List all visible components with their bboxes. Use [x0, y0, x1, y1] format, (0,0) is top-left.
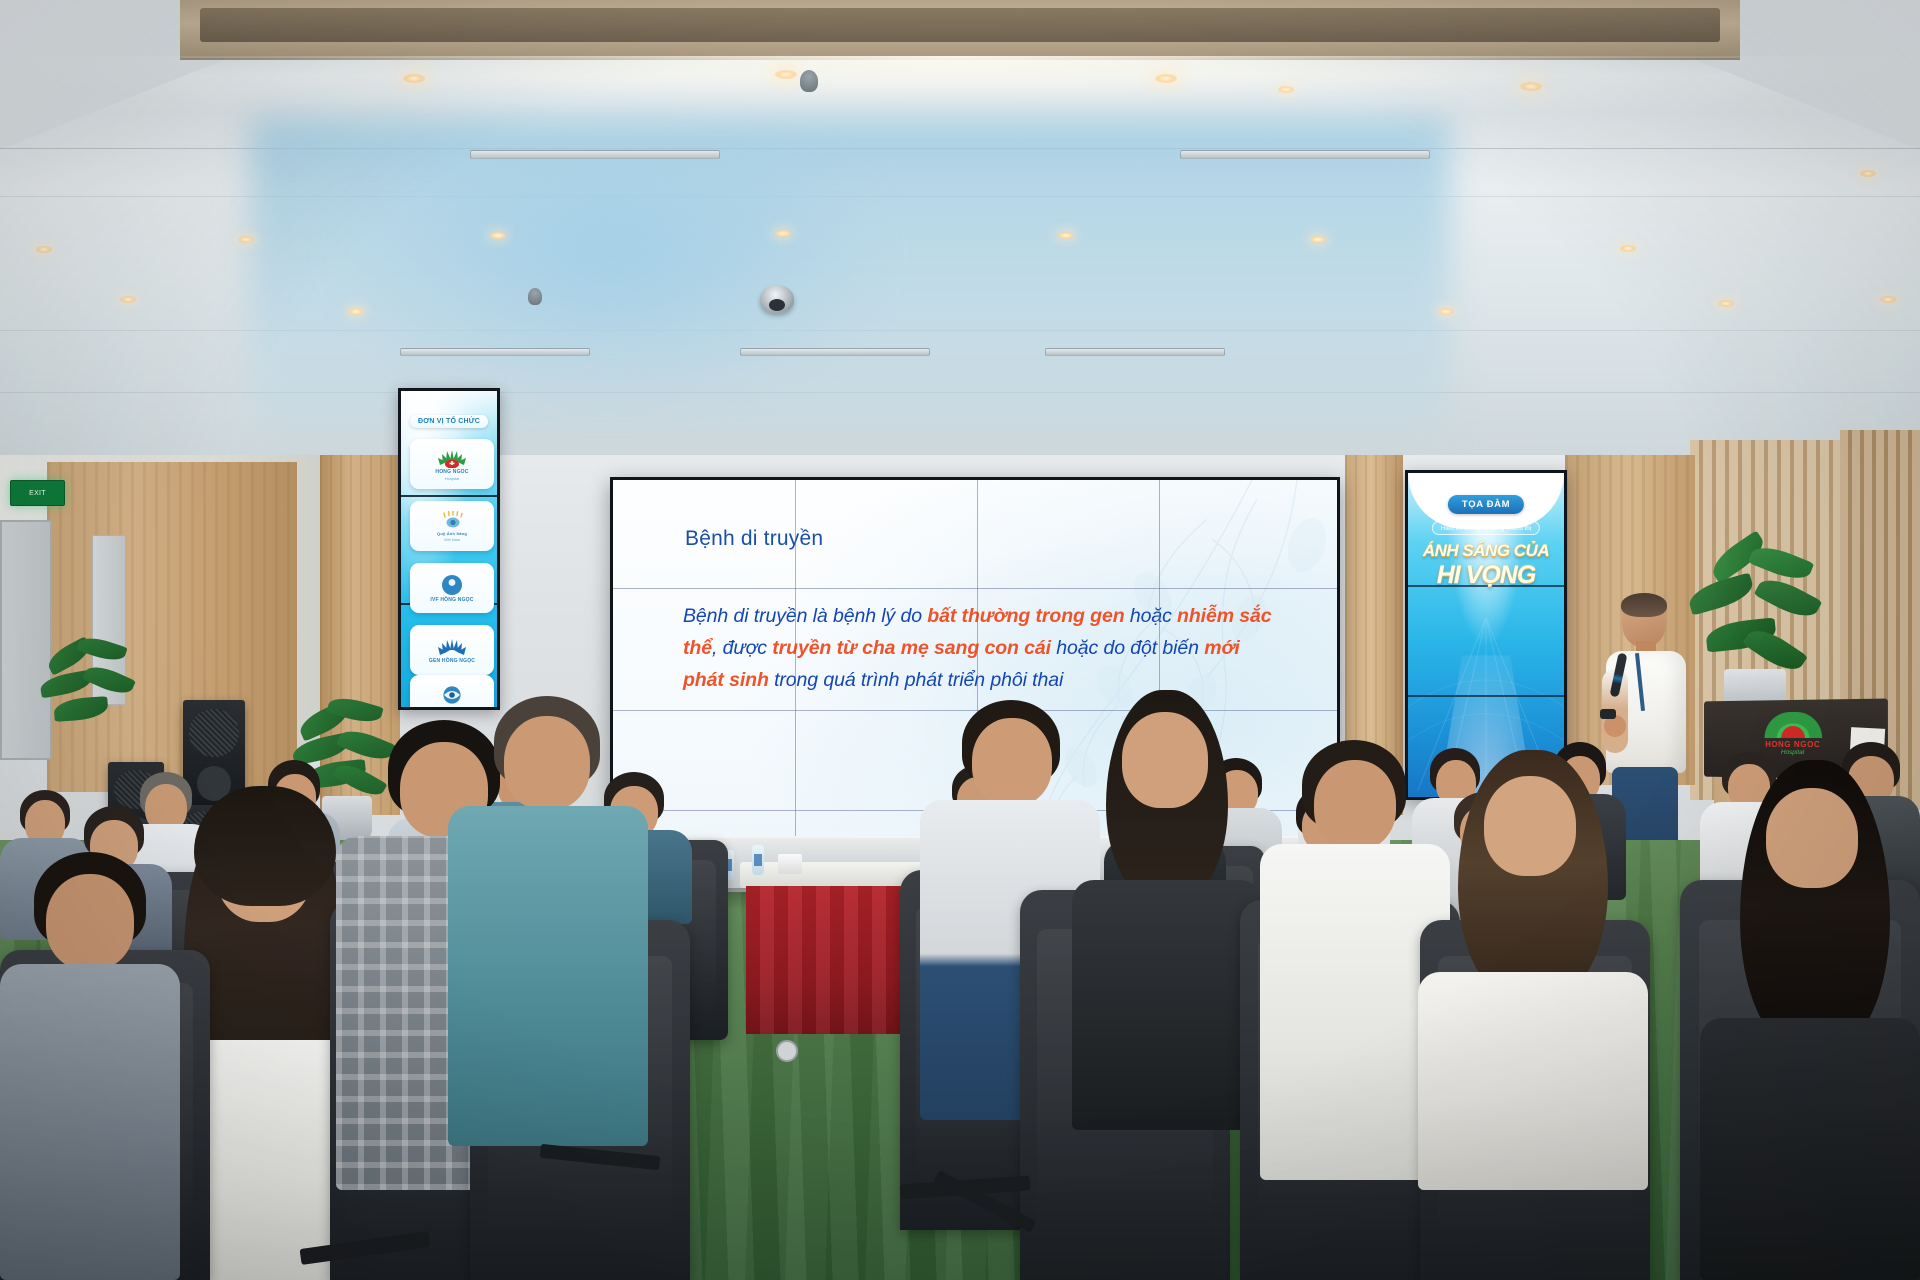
ceiling-downlight [1718, 300, 1734, 307]
event-hero-line-2: HI VỌNG [1437, 561, 1536, 590]
ceiling-downlight [490, 232, 506, 239]
ceiling-downlight [1278, 86, 1294, 93]
water-bottle [752, 845, 764, 875]
audience-person-front-far-right [1700, 760, 1920, 1280]
conference-room-photo: EXIT ĐƠN VỊ TỔ CHỨC HONG NGOC [0, 0, 1920, 1280]
slide-run-0: Bệnh di truyền là bệnh lý do [683, 605, 927, 627]
ceiling-downlight [1880, 296, 1896, 303]
hong-ngoc-fan-icon [435, 448, 469, 468]
sponsor-card-hong-ngoc: HONG NGOC Hospital [410, 439, 494, 489]
potted-plant-far-left [40, 640, 150, 770]
slide-run-6: hoặc do đột biến [1051, 637, 1204, 659]
ceiling-downlight [1310, 236, 1326, 243]
panel-seam [613, 588, 1337, 589]
eye-sun-icon [437, 510, 467, 530]
ceiling-downlight [1620, 245, 1636, 252]
slide-run-1: bất thường trong gen [927, 605, 1124, 627]
sponsor-name: GEN HỒNG NGỌC [429, 658, 475, 664]
sponsor-card-ivf: IVF HỒNG NGỌC [410, 563, 494, 613]
gene-fan-icon [435, 637, 469, 657]
slide-run-8: trong quá trình phát triển phôi thai [769, 669, 1063, 691]
panel-seam [795, 480, 796, 879]
slide-run-2: hoặc [1125, 605, 1178, 627]
event-badge: TỌA ĐÀM [1448, 495, 1524, 514]
presenter-hair [1621, 593, 1667, 617]
slide-run-4: , được [712, 637, 772, 659]
sponsor-sub: Việt Nam [444, 537, 460, 542]
sponsor-name: IVF HỒNG NGỌC [430, 597, 473, 603]
ceiling-downlight [120, 296, 136, 303]
ceiling-downlight [1860, 170, 1876, 177]
ceiling [0, 0, 1920, 470]
audience-person-front-teal [448, 696, 648, 1156]
slide-title: Bệnh di truyền [685, 527, 823, 551]
sponsor-card-gen: GEN HỒNG NGỌC [410, 625, 494, 675]
slide-body-text: Bệnh di truyền là bệnh lý do bất thường … [683, 600, 1283, 696]
ceiling-downlight [775, 230, 791, 237]
slide-run-5: truyền từ cha mẹ sang con cái [772, 637, 1051, 659]
ceiling-downlight [775, 70, 797, 79]
ceiling-downlight [36, 246, 52, 253]
audience-person-front-far-left [0, 852, 180, 1280]
podium-brand: HONG NGOC [1764, 740, 1822, 749]
sponsor-name: Quỹ Ánh Sáng [437, 531, 467, 536]
ceiling-downlight [1155, 74, 1177, 83]
table-caster-wheel [776, 1040, 798, 1062]
air-diffuser [400, 348, 590, 356]
sponsor-name: HONG NGOC [435, 469, 468, 475]
baby-circle-icon [439, 574, 465, 596]
air-diffuser [1180, 150, 1430, 159]
audience-person-front-right [1418, 750, 1648, 1190]
exit-sign: EXIT [10, 480, 65, 506]
ceiling-downlight [348, 308, 364, 315]
sponsor-led-panel: ĐƠN VỊ TỔ CHỨC HONG NGOC Hospital [398, 388, 500, 710]
ceiling-downlight [238, 236, 254, 243]
head-table-red-skirt [746, 886, 924, 1034]
podium-logo: HONG NGOC Hospital [1764, 712, 1822, 757]
ceiling-downlight [1520, 82, 1542, 91]
sponsor-sub: Hospital [445, 476, 459, 481]
potted-plant-right [1680, 545, 1830, 725]
sprinkler-head [528, 288, 542, 305]
ceiling-downlight [1438, 308, 1454, 315]
sponsor-card-quy-anh-sang: Quỹ Ánh Sáng Việt Nam [410, 501, 494, 551]
ceiling-camera [760, 285, 794, 313]
air-diffuser [740, 348, 930, 356]
ceiling-downlight [403, 74, 425, 83]
sprinkler-head [800, 70, 818, 92]
ceiling-downlight [1058, 232, 1074, 239]
air-diffuser [470, 150, 720, 159]
audience-person-front-ponytail [1072, 690, 1262, 1130]
air-diffuser [1045, 348, 1225, 356]
ceiling-recess-beam [180, 0, 1740, 60]
sponsor-panel-header: ĐƠN VỊ TỔ CHỨC [410, 415, 488, 428]
event-subtitle: Hiểu về di truyền trong khiếm thị [1432, 521, 1540, 535]
event-hero-line-1: ÁNH SÁNG CỦA [1423, 541, 1549, 561]
exit-sign-label: EXIT [29, 490, 46, 497]
cup-stack [778, 854, 802, 874]
led-wall-light-spill-core [330, 150, 890, 410]
wristwatch [1600, 709, 1616, 719]
